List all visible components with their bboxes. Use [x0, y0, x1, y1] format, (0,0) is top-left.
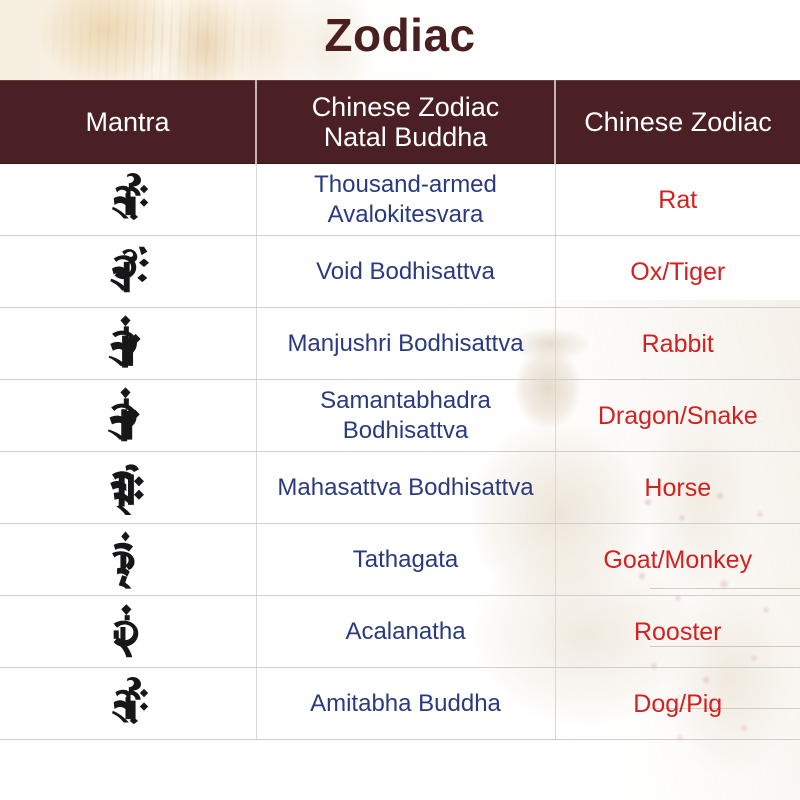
natal-buddha-line1: Mahasattva Bodhisattva — [263, 473, 549, 502]
column-header-natal-buddha-line2: Natal Buddha — [261, 122, 550, 152]
cell-mantra — [0, 308, 256, 380]
zodiac-table: Mantra Chinese Zodiac Natal Buddha Chine… — [0, 80, 800, 740]
cell-mantra — [0, 452, 256, 524]
table-row: Manjushri BodhisattvaRabbit — [0, 308, 800, 380]
natal-buddha-line1: Samantabhadra — [263, 386, 549, 415]
cell-natal-buddha: Acalanatha — [256, 596, 555, 668]
cell-natal-buddha: Manjushri Bodhisattva — [256, 308, 555, 380]
page-title: Zodiac — [0, 8, 800, 63]
cell-mantra — [0, 236, 256, 308]
siddham-seed-syllable-sa-icon — [97, 456, 159, 520]
siddham-seed-syllable-an-icon — [97, 384, 159, 448]
chinese-zodiac-sign: Rabbit — [562, 329, 795, 359]
table-row: AcalanathaRooster — [0, 596, 800, 668]
chinese-zodiac-sign: Rat — [562, 185, 795, 215]
natal-buddha-line1: Void Bodhisattva — [263, 257, 549, 286]
cell-chinese-zodiac: Rat — [555, 164, 800, 236]
cell-chinese-zodiac: Dragon/Snake — [555, 380, 800, 452]
chinese-zodiac-sign: Rooster — [562, 617, 795, 647]
table-row: TathagataGoat/Monkey — [0, 524, 800, 596]
cell-chinese-zodiac: Rooster — [555, 596, 800, 668]
natal-buddha-line2: Avalokitesvara — [263, 200, 549, 229]
cell-chinese-zodiac: Horse — [555, 452, 800, 524]
table-body: Thousand-armedAvalokitesvaraRatVoid Bodh… — [0, 164, 800, 740]
cell-mantra — [0, 380, 256, 452]
natal-buddha-line1: Acalanatha — [263, 617, 549, 646]
cell-mantra — [0, 524, 256, 596]
column-header-natal-buddha-line1: Chinese Zodiac — [261, 92, 550, 122]
cell-mantra — [0, 596, 256, 668]
cell-natal-buddha: SamantabhadraBodhisattva — [256, 380, 555, 452]
cell-natal-buddha: Mahasattva Bodhisattva — [256, 452, 555, 524]
siddham-seed-syllable-ham-icon — [97, 600, 159, 664]
cell-chinese-zodiac: Dog/Pig — [555, 668, 800, 740]
chinese-zodiac-sign: Goat/Monkey — [562, 545, 795, 575]
column-header-chinese-zodiac: Chinese Zodiac — [555, 81, 800, 164]
table-row: SamantabhadraBodhisattvaDragon/Snake — [0, 380, 800, 452]
siddham-seed-syllable-vam-icon — [97, 528, 159, 592]
chinese-zodiac-sign: Horse — [562, 473, 795, 503]
siddham-seed-syllable-tram-icon — [97, 240, 159, 304]
siddham-seed-syllable-hrih-icon — [97, 168, 159, 232]
natal-buddha-line2: Bodhisattva — [263, 416, 549, 445]
zodiac-infographic: Zodiac Mantra Chinese Zodiac Natal Buddh… — [0, 0, 800, 800]
table-row: Amitabha BuddhaDog/Pig — [0, 668, 800, 740]
table-row: Void BodhisattvaOx/Tiger — [0, 236, 800, 308]
chinese-zodiac-sign: Dragon/Snake — [562, 401, 795, 431]
cell-natal-buddha: Thousand-armedAvalokitesvara — [256, 164, 555, 236]
siddham-seed-syllable-man-icon — [97, 312, 159, 376]
column-header-natal-buddha: Chinese Zodiac Natal Buddha — [256, 81, 555, 164]
natal-buddha-line1: Tathagata — [263, 545, 549, 574]
table-row: Mahasattva BodhisattvaHorse — [0, 452, 800, 524]
cell-mantra — [0, 164, 256, 236]
cell-chinese-zodiac: Rabbit — [555, 308, 800, 380]
table-header-row: Mantra Chinese Zodiac Natal Buddha Chine… — [0, 81, 800, 164]
chinese-zodiac-sign: Dog/Pig — [562, 689, 795, 719]
cell-natal-buddha: Void Bodhisattva — [256, 236, 555, 308]
column-header-mantra: Mantra — [0, 81, 256, 164]
natal-buddha-line1: Amitabha Buddha — [263, 689, 549, 718]
cell-natal-buddha: Amitabha Buddha — [256, 668, 555, 740]
chinese-zodiac-sign: Ox/Tiger — [562, 257, 795, 287]
cell-natal-buddha: Tathagata — [256, 524, 555, 596]
natal-buddha-line1: Manjushri Bodhisattva — [263, 329, 549, 358]
natal-buddha-line1: Thousand-armed — [263, 170, 549, 199]
cell-chinese-zodiac: Goat/Monkey — [555, 524, 800, 596]
cell-chinese-zodiac: Ox/Tiger — [555, 236, 800, 308]
siddham-seed-syllable-hrih-2-icon — [97, 672, 159, 736]
table-header: Mantra Chinese Zodiac Natal Buddha Chine… — [0, 81, 800, 164]
cell-mantra — [0, 668, 256, 740]
table-row: Thousand-armedAvalokitesvaraRat — [0, 164, 800, 236]
